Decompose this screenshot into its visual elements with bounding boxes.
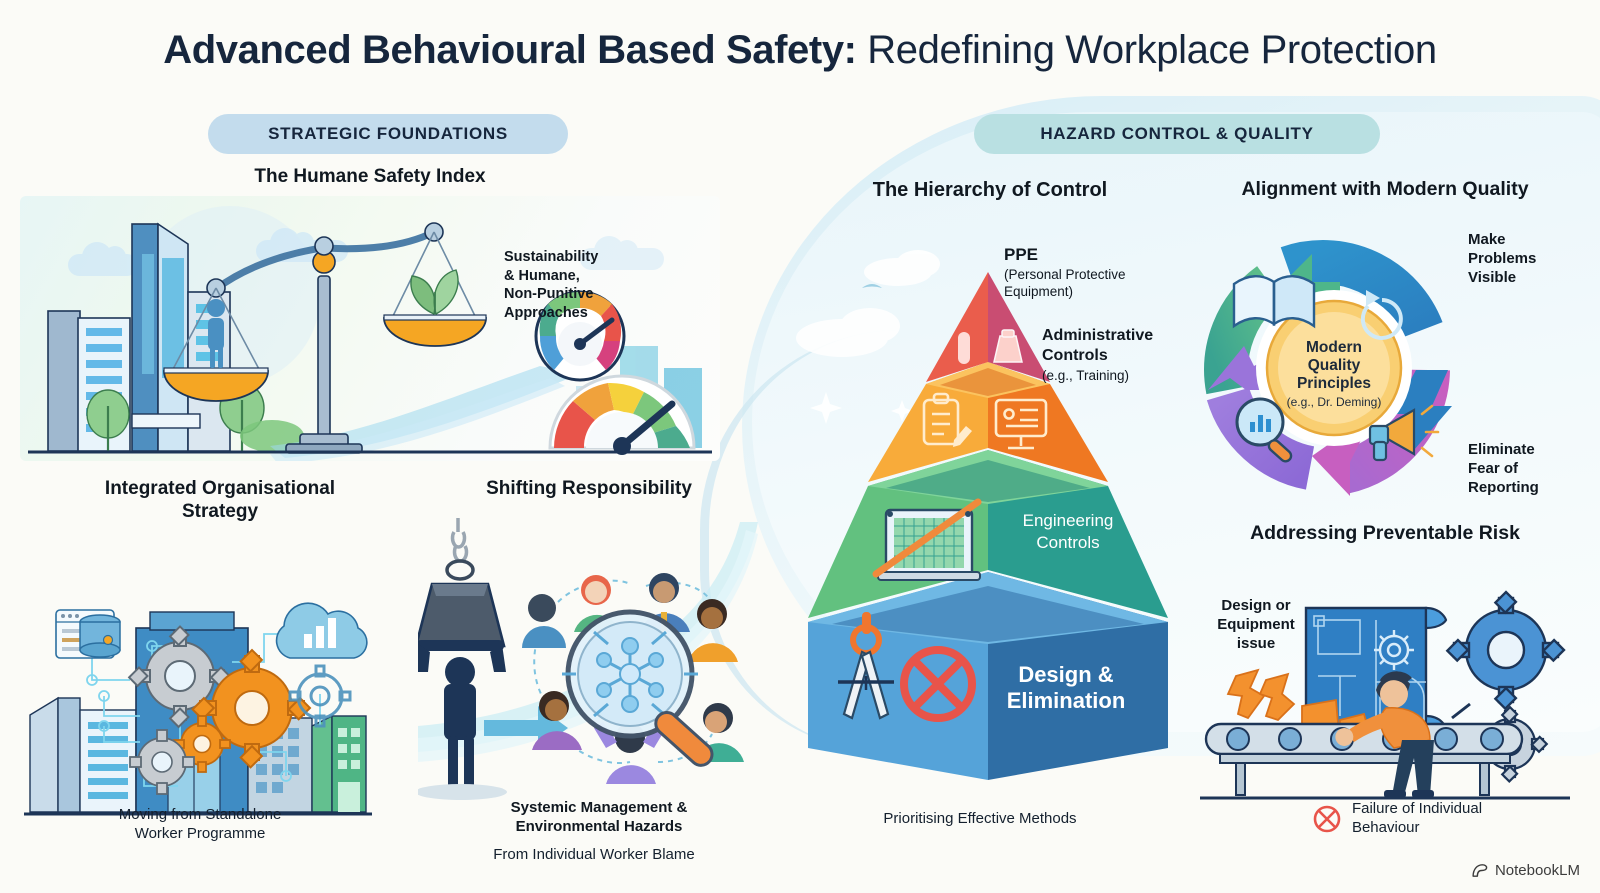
annotation-line: & Humane, (504, 267, 598, 286)
section-pill-hazard-control-quality[interactable]: HAZARD CONTROL & QUALITY (974, 114, 1380, 154)
panel-caption: Prioritising Effective Methods (770, 810, 1190, 829)
center-label-line1: Modern (1306, 339, 1362, 356)
annotation-line: Environmental Hazards (434, 817, 764, 836)
panel-caption: Moving from Standalone Worker Programme (20, 806, 380, 844)
cloud-analytics-icon (277, 603, 367, 658)
infographic-canvas: Advanced Behavioural Based Safety: Redef… (0, 0, 1600, 893)
cloud-icon (796, 250, 940, 357)
annotation-line: issue (1196, 634, 1316, 653)
level-sublabel: (e.g., Training) (1042, 367, 1153, 384)
notebooklm-logo-icon (1471, 862, 1488, 879)
panel-caption: Failure of Individual Behaviour (1202, 800, 1592, 838)
humane-safety-illustration: Sustainability & Humane, Non-Punitive Ap… (20, 196, 720, 461)
panel-shifting-responsibility: Shifting Responsibility (424, 478, 754, 868)
panel-title: Addressing Preventable Risk (1180, 522, 1590, 545)
panel-hierarchy-of-control: The Hierarchy of Control (790, 178, 1190, 838)
watermark-label: NotebookLM (1495, 862, 1580, 879)
annotation-line: Sustainability (504, 248, 598, 267)
level-label-ppe: PPE (Personal Protective Equipment) (1004, 244, 1126, 300)
panel-humane-safety-index: The Humane Safety Index (20, 166, 720, 466)
city-skyline-icon (48, 224, 230, 451)
annotation-line: Equipment (1196, 615, 1316, 634)
prohibition-cross-icon (1312, 804, 1342, 834)
panel-title: Integrated Organisational Strategy (20, 478, 420, 524)
annotation-eliminate-fear-of-reporting: Eliminate Fear of Reporting (1468, 440, 1588, 498)
center-label-line3: Principles (1297, 375, 1371, 392)
panel-caption-line: Failure of Individual (1352, 800, 1482, 819)
gear-icon (1447, 592, 1564, 709)
annotation-line: Reporting (1468, 478, 1588, 497)
annotation-line: Visible (1468, 268, 1588, 287)
level-sublabel-line: (Personal Protective (1004, 266, 1126, 283)
panel-title-line: Integrated Organisational (20, 478, 420, 501)
section-pill-label: HAZARD CONTROL & QUALITY (1040, 124, 1313, 144)
panel-caption-text: Failure of Individual Behaviour (1352, 800, 1482, 838)
level-label-line: Administrative (1042, 326, 1153, 346)
panel-caption-line: Moving from Standalone (20, 806, 380, 825)
level-label-text: PPE (1004, 244, 1126, 266)
level-label-engineering-controls-line2: Controls (1036, 533, 1099, 552)
panel-preventable-risk: Addressing Preventable Risk (1180, 522, 1590, 852)
panel-caption: From Individual Worker Blame (424, 846, 764, 865)
watermark: NotebookLM (1471, 862, 1580, 879)
page-title: Advanced Behavioural Based Safety: Redef… (0, 28, 1600, 73)
open-book-icon (1234, 276, 1314, 326)
modern-quality-cycle-illustration: Modern Quality Principles (e.g., Dr. Dem… (1184, 210, 1484, 506)
annotation-line: Approaches (504, 304, 598, 323)
annotation-line: Make (1468, 230, 1588, 249)
section-pill-strategic-foundations[interactable]: STRATEGIC FOUNDATIONS (208, 114, 568, 154)
annotation-line: Problems (1468, 249, 1588, 268)
annotation-line: Non-Punitive (504, 285, 598, 304)
glove-icon (958, 332, 970, 364)
blueprint-grid-icon (876, 502, 980, 580)
center-sublabel: (e.g., Dr. Deming) (1287, 395, 1382, 409)
panel-caption-line: Worker Programme (20, 825, 380, 844)
annotation-design-equipment-issue: Design or Equipment issue (1196, 596, 1316, 654)
bird-icon (862, 284, 882, 288)
database-icon (80, 615, 120, 657)
level-label-design-elimination-line2: Elimination (1007, 688, 1126, 713)
panel-modern-quality: Alignment with Modern Quality (1180, 178, 1590, 518)
humane-safety-svg (20, 196, 720, 461)
panel-caption-line: Behaviour (1352, 819, 1482, 838)
panel-title: Alignment with Modern Quality (1180, 178, 1590, 201)
level-label-engineering-controls-line1: Engineering (1023, 511, 1114, 530)
hanging-weight-icon (418, 518, 504, 646)
panel-integrated-strategy: Integrated Organisational Strategy (20, 478, 420, 868)
annotation-line: Eliminate (1468, 440, 1588, 459)
annotation-make-problems-visible: Make Problems Visible (1468, 230, 1588, 288)
level-sublabel-line: Equipment) (1004, 283, 1126, 300)
section-pill-label: STRATEGIC FOUNDATIONS (268, 124, 508, 144)
shifting-responsibility-illustration (418, 512, 758, 802)
page-title-bold: Advanced Behavioural Based Safety: (163, 28, 856, 72)
annotation-sustainability: Sustainability & Humane, Non-Punitive Ap… (504, 248, 598, 322)
annotation-line: Design or (1196, 596, 1316, 615)
integrated-strategy-illustration (20, 530, 420, 820)
panel-title: Shifting Responsibility (424, 478, 754, 501)
annotation-line: Systemic Management & (434, 798, 764, 817)
sparkle-icon (810, 392, 913, 424)
pointer-line (1452, 704, 1470, 718)
hierarchy-pyramid-illustration: Design & Elimination Engineering Control… (778, 214, 1198, 814)
leaf-plant-icon (411, 270, 458, 314)
annotation-systemic-management: Systemic Management & Environmental Haza… (434, 798, 764, 836)
panel-title: The Humane Safety Index (20, 166, 720, 189)
panel-title-line: Strategy (20, 501, 420, 524)
annotation-line: Fear of (1468, 459, 1588, 478)
center-label-line2: Quality (1308, 357, 1361, 374)
level-label-administrative-controls: Administrative Controls (e.g., Training) (1042, 326, 1153, 384)
page-title-regular: Redefining Workplace Protection (857, 28, 1437, 72)
level-label-design-elimination-line1: Design & (1018, 662, 1113, 687)
level-label-line: Controls (1042, 346, 1153, 366)
panel-title: The Hierarchy of Control (790, 178, 1190, 202)
